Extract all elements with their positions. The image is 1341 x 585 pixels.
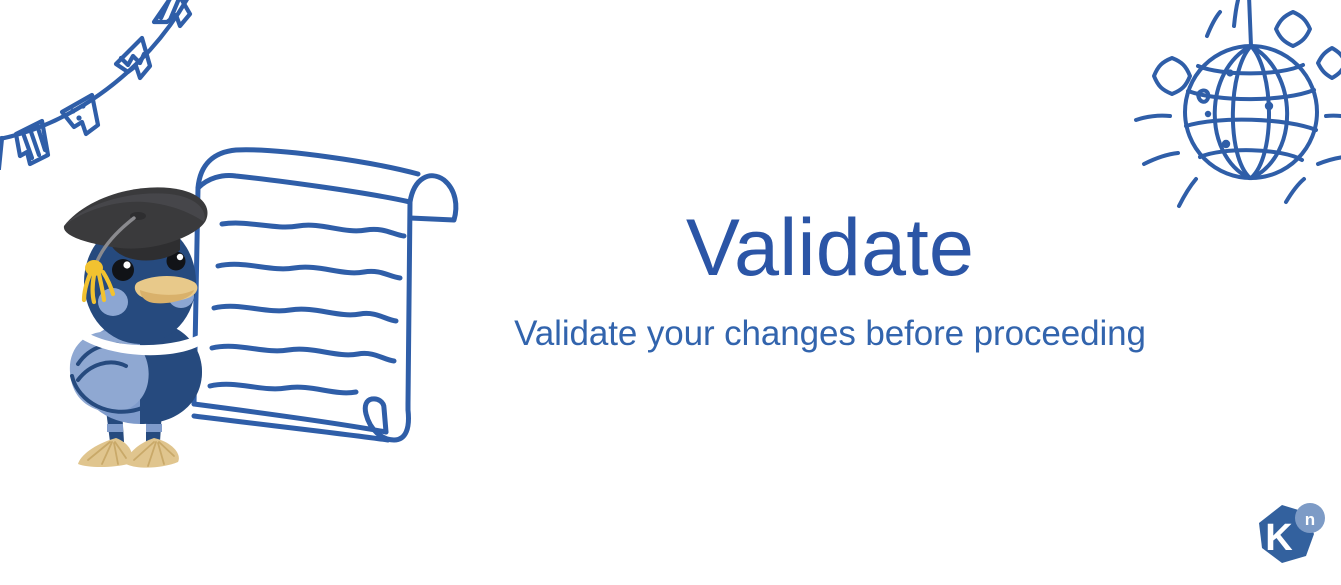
page-title: Validate [462,206,1198,292]
logo-letter-n: n [1305,510,1315,529]
brand-logo[interactable]: K n [1252,499,1326,571]
illustration-group [52,138,462,473]
logo-letter-k: K [1265,517,1293,559]
graduate-bird-mascot [54,186,226,472]
slide-canvas: Validate Validate your changes before pr… [0,0,1341,585]
text-block: Validate Validate your changes before pr… [462,206,1198,354]
page-subtitle: Validate your changes before proceeding [462,314,1198,355]
disco-ball-icon [1122,0,1341,224]
